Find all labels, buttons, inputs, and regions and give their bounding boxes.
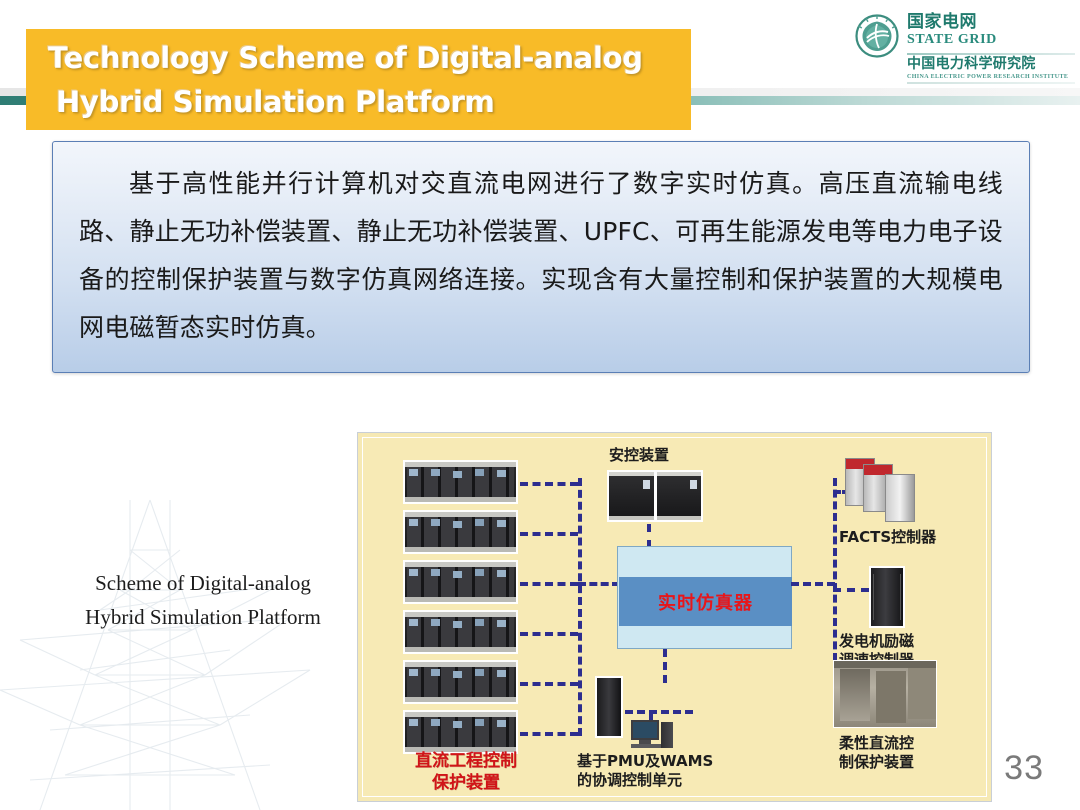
realtime-simulator-box: 实时仿真器 <box>617 546 792 649</box>
security-control-device-photo <box>607 470 703 522</box>
page-number: 33 <box>1004 749 1044 788</box>
server-rack-photo <box>405 562 516 602</box>
connector-line <box>520 732 578 736</box>
realtime-simulator-band: 实时仿真器 <box>619 577 792 626</box>
logo-underline <box>907 82 1075 84</box>
generator-exciter-photo <box>869 566 905 628</box>
label-pmu-wams-unit: 基于PMU及WAMS 的协调控制单元 <box>577 752 713 790</box>
body-paragraph: 基于高性能并行计算机对交直流电网进行了数字实时仿真。高压直流输电线路、静止无功补… <box>79 160 1003 352</box>
logo-cn-primary: 国家电网 <box>907 13 997 32</box>
label-facts-controller: FACTS控制器 <box>839 528 936 547</box>
cabinet-unit <box>871 568 903 626</box>
connector-line <box>647 524 651 548</box>
logo-en-primary: STATE GRID <box>907 32 997 48</box>
connector-line <box>625 710 693 714</box>
rack-list-item <box>403 610 518 654</box>
cabinet-unit <box>657 472 702 520</box>
page-title-line-2: Hybrid Simulation Platform <box>48 80 691 124</box>
cabinet-unit <box>885 474 915 522</box>
connector-line <box>520 532 578 536</box>
corporate-logo: 国家电网 STATE GRID 中国电力科学研究院 CHINA ELECTRIC… <box>855 8 1075 86</box>
logo-divider <box>907 53 1075 55</box>
rack-list-item <box>403 460 518 504</box>
cabinet-unit <box>609 472 654 520</box>
label-security-control-device: 安控装置 <box>609 446 669 465</box>
connector-line <box>520 582 578 586</box>
logo-en-secondary: CHINA ELECTRIC POWER RESEARCH INSTITUTE <box>907 73 1068 81</box>
server-rack-photo <box>405 662 516 702</box>
connector-line <box>520 632 578 636</box>
architecture-diagram: 安控装置 实时仿真器 FACTS控制器 发电机励 <box>357 432 992 802</box>
rack-list-item <box>403 660 518 704</box>
connector-line <box>578 582 620 586</box>
connector-line <box>663 649 667 683</box>
server-rack-photo <box>405 712 516 752</box>
label-dc-project-protection: 直流工程控制 保护装置 <box>393 750 539 794</box>
connector-line <box>520 682 578 686</box>
label-flexible-dc-control: 柔性直流控 制保护装置 <box>839 734 914 772</box>
logo-text-primary: 国家电网 STATE GRID <box>907 13 997 48</box>
facts-controller-photo <box>845 458 929 524</box>
connector-bus-left <box>578 478 582 736</box>
diagram-canvas: 安控装置 实时仿真器 FACTS控制器 发电机励 <box>362 437 987 797</box>
logo-text-secondary: 中国电力科学研究院 CHINA ELECTRIC POWER RESEARCH … <box>907 56 1068 81</box>
figure-caption-line-2: Hybrid Simulation Platform <box>58 600 348 634</box>
server-rack-photo <box>405 612 516 652</box>
connector-line <box>833 588 869 592</box>
state-grid-emblem-icon <box>855 14 899 58</box>
monitor-base <box>631 744 663 748</box>
cabinet-unit <box>597 678 621 736</box>
rack-list-item <box>403 560 518 604</box>
figure-caption-line-1: Scheme of Digital-analog <box>58 566 348 600</box>
realtime-simulator-label: 实时仿真器 <box>658 589 753 615</box>
connector-line <box>791 582 835 586</box>
page-title-line-1: Technology Scheme of Digital-analog <box>48 36 691 80</box>
rack-list-item <box>403 710 518 754</box>
slide-canvas: Technology Scheme of Digital-analog Hybr… <box>0 0 1080 810</box>
figure-caption: Scheme of Digital-analog Hybrid Simulati… <box>58 566 348 634</box>
pc-tower-icon <box>661 722 673 748</box>
rack-list-item <box>403 510 518 554</box>
body-text-panel: 基于高性能并行计算机对交直流电网进行了数字实时仿真。高压直流输电线路、静止无功补… <box>52 141 1030 373</box>
monitor-icon <box>631 720 659 740</box>
flexible-dc-control-photo <box>833 660 937 728</box>
slide-title-banner: Technology Scheme of Digital-analog Hybr… <box>26 29 691 130</box>
pmu-cabinet-photo <box>595 676 623 738</box>
server-rack-photo <box>405 462 516 502</box>
connector-line <box>520 482 578 486</box>
logo-cn-secondary: 中国电力科学研究院 <box>907 56 1068 73</box>
transmission-pylon-watermark <box>0 490 320 810</box>
workstation-photo <box>631 720 675 756</box>
server-rack-photo <box>405 512 516 552</box>
